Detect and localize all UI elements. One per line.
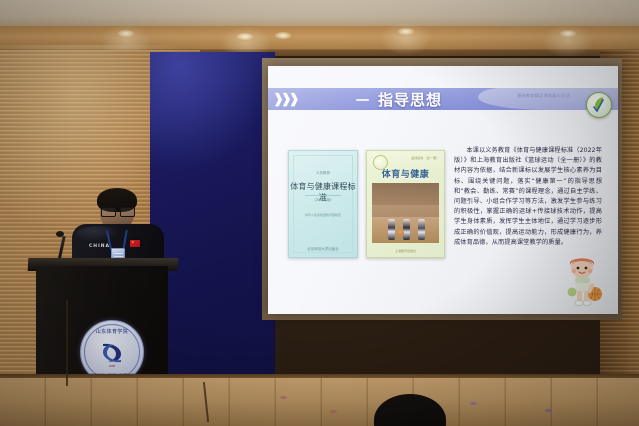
flag-star: ★	[132, 241, 135, 244]
leaf-check-glyph	[593, 97, 605, 113]
eyeglasses-icon	[101, 207, 133, 215]
book-covers-group: 义务教育 体育与健康课程标准 （2022年版） 中华人民共和国教育部制定 北京师…	[288, 150, 443, 256]
book-publisher-line: 中华人民共和国教育部制定	[289, 213, 357, 217]
book-subtitle: （2022年版）	[289, 198, 357, 203]
floor-plank-lines	[0, 378, 639, 426]
basketball-icon	[398, 230, 404, 236]
podium-cable	[66, 300, 68, 386]
jacket-highlight	[76, 226, 120, 242]
gym-wall	[372, 183, 439, 205]
book-inner-border	[293, 155, 353, 253]
player-figure	[388, 219, 395, 240]
spotlight-icon	[118, 30, 134, 37]
book-footer: 北京师范大学出版社	[289, 247, 357, 252]
player-figure	[403, 219, 410, 240]
spotlight-icon	[237, 33, 253, 40]
floor-mark	[280, 396, 287, 399]
book-cover-basketball-textbook: 篮球运动 （全一册） 体育与健康 上海教育出版社	[366, 150, 445, 258]
lens-left	[101, 207, 116, 217]
emblem-year: 1958	[81, 364, 143, 368]
book-corner-text: 篮球运动 （全一册）	[411, 156, 439, 160]
backdrop-light-sheen	[150, 52, 275, 172]
book-footer: 上海教育出版社	[367, 249, 444, 253]
player-figure	[418, 219, 425, 240]
spotlight-icon	[398, 28, 414, 35]
floor-mark	[470, 402, 477, 405]
slide-body-text: 本课以义务教育《体育与健康课程标准（2022年版）》和上海教育出版社《篮球运动（…	[454, 146, 602, 248]
book-title: 体育与健康	[367, 167, 444, 180]
badge-line	[114, 253, 123, 254]
book-top-label: 义务教育	[289, 171, 357, 176]
emblem-mark-icon	[97, 341, 127, 365]
double-chevron-right-icon: ❱❱❱	[273, 91, 297, 107]
book-rule	[305, 195, 341, 196]
slide-title-number: 一	[356, 90, 369, 109]
green-leaf-check-logo-icon	[586, 92, 612, 118]
emblem-top-text: 山东体育学院	[81, 328, 143, 335]
book-cover-photo	[372, 183, 439, 243]
lens-right	[120, 207, 135, 217]
floor-mark	[545, 409, 552, 412]
floor-mark	[330, 410, 337, 413]
spotlight-icon	[560, 30, 576, 37]
lecture-hall-photo: ❱❱❱ 一 指导思想 基础教育精品课程展示活动 义务教育 体育与健康课程标准 （…	[0, 0, 639, 426]
presentation-slide[interactable]: ❱❱❱ 一 指导思想 基础教育精品课程展示活动 义务教育 体育与健康课程标准 （…	[268, 66, 618, 314]
spotlight-icon	[275, 32, 291, 39]
china-flag-patch-icon: ★	[130, 240, 140, 247]
badge-line	[114, 256, 123, 257]
cartoon-child-with-basketball-icon	[562, 256, 606, 308]
jacket-text: CHINA	[89, 244, 110, 249]
slide-header-micro-text: 基础教育精品课程展示活动	[517, 93, 570, 99]
book-cover-curriculum-standard: 义务教育 体育与健康课程标准 （2022年版） 中华人民共和国教育部制定 北京师…	[288, 150, 358, 258]
slide-title-text: 指导思想	[378, 89, 442, 110]
